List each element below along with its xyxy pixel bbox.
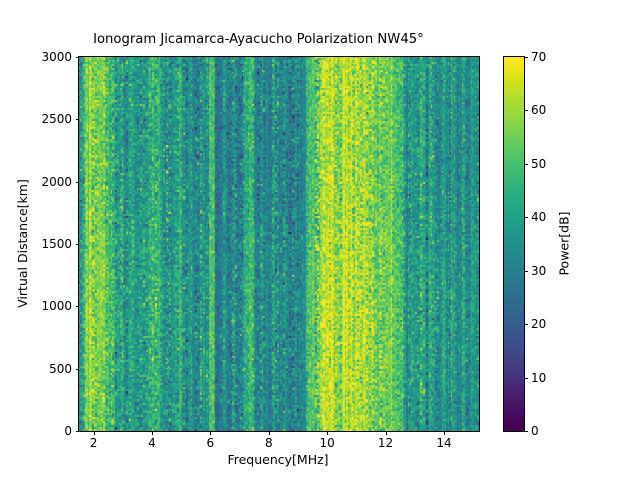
y-tick-mark — [76, 369, 80, 370]
colorbar-tick-label: 0 — [531, 425, 539, 437]
x-tick-label: 4 — [148, 437, 156, 449]
x-tick-label: 8 — [265, 437, 273, 449]
colorbar: 010203040506070 — [503, 56, 525, 432]
colorbar-tick-label: 60 — [531, 104, 546, 116]
y-tick-label: 2500 — [41, 113, 72, 125]
y-tick-label: 1500 — [41, 238, 72, 250]
colorbar-tick-mark — [524, 217, 528, 218]
x-axis-label: Frequency[MHz] — [78, 452, 478, 467]
chart-title-line1: Ionogram Jicamarca-Ayacucho Polarization… — [93, 32, 424, 47]
colorbar-tick-mark — [524, 57, 528, 58]
colorbar-tick-label: 50 — [531, 158, 546, 170]
x-tick-label: 14 — [436, 437, 451, 449]
y-axis-label: Virtual Distance[km] — [14, 56, 30, 430]
y-tick-mark — [76, 431, 80, 432]
x-tick-mark — [327, 431, 328, 435]
x-tick-mark — [210, 431, 211, 435]
y-tick-label: 0 — [64, 425, 72, 437]
plot-area: 0500100015002000250030002468101214 — [78, 56, 480, 432]
colorbar-tick-mark — [524, 110, 528, 111]
ionogram-heatmap — [79, 57, 479, 431]
y-tick-mark — [76, 306, 80, 307]
colorbar-tick-label: 10 — [531, 372, 546, 384]
colorbar-gradient — [504, 57, 524, 431]
x-tick-mark — [386, 431, 387, 435]
y-tick-mark — [76, 57, 80, 58]
x-tick-mark — [152, 431, 153, 435]
colorbar-tick-mark — [524, 164, 528, 165]
y-tick-mark — [76, 182, 80, 183]
x-tick-label: 2 — [90, 437, 98, 449]
colorbar-tick-label: 40 — [531, 211, 546, 223]
colorbar-tick-label: 30 — [531, 265, 546, 277]
colorbar-label: Power[dB] — [556, 56, 572, 430]
y-tick-mark — [76, 119, 80, 120]
x-tick-mark — [94, 431, 95, 435]
y-tick-label: 2000 — [41, 176, 72, 188]
x-tick-label: 6 — [207, 437, 215, 449]
colorbar-tick-mark — [524, 324, 528, 325]
ionogram-figure: Ionogram Jicamarca-Ayacucho Polarization… — [0, 0, 640, 480]
x-tick-label: 10 — [320, 437, 335, 449]
colorbar-tick-mark — [524, 378, 528, 379]
x-tick-mark — [269, 431, 270, 435]
x-tick-mark — [444, 431, 445, 435]
colorbar-tick-mark — [524, 271, 528, 272]
colorbar-tick-label: 70 — [531, 51, 546, 63]
y-tick-mark — [76, 244, 80, 245]
colorbar-tick-mark — [524, 431, 528, 432]
y-tick-label: 3000 — [41, 51, 72, 63]
x-tick-label: 12 — [378, 437, 393, 449]
colorbar-tick-label: 20 — [531, 318, 546, 330]
y-tick-label: 1000 — [41, 300, 72, 312]
y-tick-label: 500 — [49, 363, 72, 375]
